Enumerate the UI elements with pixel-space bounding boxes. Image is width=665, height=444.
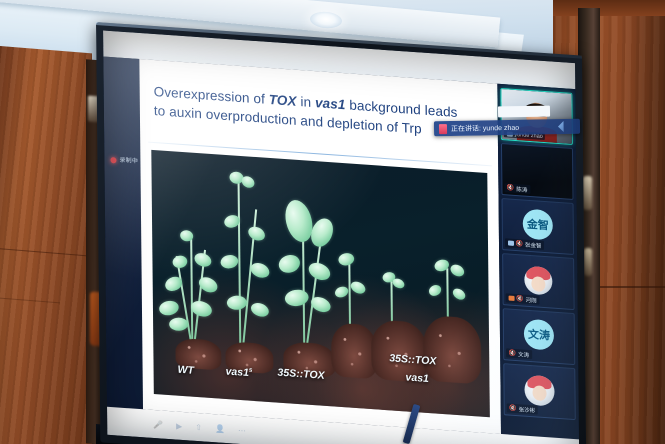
participant-name-badge: 🔇 文涛 [506,348,532,359]
participant-name: 陈涛 [516,185,527,194]
meeting-app-rail[interactable]: 录制中 [103,57,143,410]
recording-dot-icon [110,157,116,163]
banner-backdrop [498,106,550,118]
video-icon[interactable]: ▶ [176,422,182,431]
participant-name: 河刚 [526,295,537,304]
mic-muted-icon: 🔇 [507,185,515,192]
active-speaker-text: 正在讲话: yunde zhao [451,122,519,133]
photo-label-35s-tox-vas1-line2: vas1 [405,371,428,385]
camera-off-icon [508,295,514,300]
wood-panel-right-top [553,0,665,16]
participant-tile-chentao[interactable]: 🔇 陈涛 [501,143,574,200]
avatar [524,375,554,407]
title-gene-vas1: vas1 [315,95,346,112]
photo-label-vas1: vas1s [225,365,252,379]
mic-muted-icon: 🔇 [509,405,517,412]
participant-name-badge: 🔇 河刚 [506,293,540,304]
speaker-icon [439,124,447,134]
recording-label: 录制中 [119,155,138,165]
participant-tile-wentao[interactable]: 文涛 🔇 文涛 [503,308,576,365]
photo-label-wt: WT [178,364,194,377]
mic-muted-icon: 🔇 [509,350,517,357]
mic-muted-icon: 🔇 [515,240,523,247]
participant-name: 张金智 [525,240,542,249]
display-screen[interactable]: 录制中 Overexpression of TOX in vas1 backgr… [103,30,579,444]
active-speaker-banner: 正在讲话: yunde zhao [434,119,580,137]
photo-label-35s-tox: 35S::TOX [277,367,324,382]
participant-name: 张沙彬 [519,405,536,414]
title-part-2: in [297,94,316,110]
participant-name-badge: 🔇 张沙彬 [507,403,538,414]
wall-light-glow [583,176,592,210]
avatar-face [531,276,545,292]
presentation-slide: Overexpression of TOX in vas1 background… [139,59,501,434]
participant-tile-zhangshabin[interactable]: 🔇 张沙彬 [503,363,576,420]
audio-wave-icon [558,121,574,132]
avatar [524,266,552,296]
participant-name: 文涛 [518,350,529,359]
camera-off-icon [507,240,513,245]
wall-display[interactable]: 录制中 Overexpression of TOX in vas1 backgr… [96,22,586,444]
avatar: 金智 [523,208,553,240]
mic-muted-icon: 🔇 [516,296,524,303]
wall-light-glow [584,248,592,276]
mic-icon[interactable]: 🎤 [153,420,163,430]
participants-icon[interactable]: 👤 [215,424,225,434]
avatar-face [532,385,546,401]
participant-name-badge: 🔇 张金智 [505,238,544,250]
avatar: 文涛 [524,319,554,351]
participant-tile-zhangjinzhi[interactable]: 金智 🔇 张金智 [502,198,575,255]
conference-room-scene: 录制中 Overexpression of TOX in vas1 backgr… [0,0,665,444]
share-icon[interactable]: ⇧ [195,423,202,432]
more-icon[interactable]: ⋯ [238,426,246,436]
participant-tile-hegang[interactable]: 🔇 河刚 [502,253,575,310]
wood-panel-left [0,46,92,444]
title-gene-tox: TOX [269,92,297,109]
toolbar-icons[interactable]: 🎤 ▶ ⇧ 👤 ⋯ [153,420,246,435]
arabidopsis-photo: WT vas1s 35S::TOX 35S::TOX vas1 [151,150,490,417]
participant-name-badge: 🔇 陈涛 [504,183,530,194]
participants-sidebar[interactable]: yunde zhao 🔇 陈涛 金智 🔇 张金智 [497,84,579,440]
